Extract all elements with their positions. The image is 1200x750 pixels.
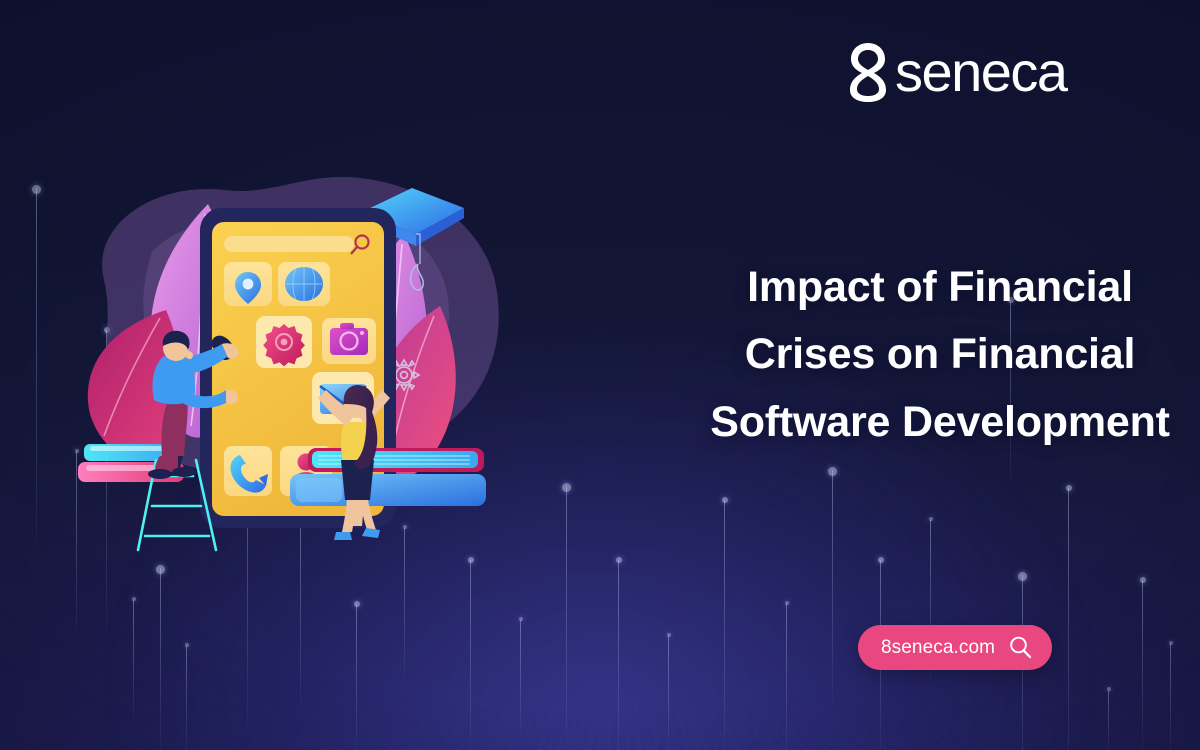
- dot-mesh-primary: [0, 670, 1200, 750]
- hero-illustration: [60, 160, 600, 560]
- website-cta-badge[interactable]: 8seneca.com: [858, 625, 1052, 670]
- books-stack-right: [290, 448, 486, 506]
- 8seneca-infinity-mark: [845, 39, 891, 105]
- brand-logo[interactable]: seneca: [845, 39, 1067, 105]
- dot-mesh-secondary: [0, 679, 1200, 750]
- logo-wordmark: seneca: [895, 44, 1067, 100]
- website-url-label: 8seneca.com: [881, 637, 995, 659]
- globe-icon: [285, 267, 323, 301]
- tablet-search-bar[interactable]: [224, 236, 369, 255]
- banner-root: seneca Impact of Financial Crises on Fin…: [0, 0, 1200, 750]
- search-icon: [1008, 635, 1033, 660]
- page-title: Impact of Financial Crises on Financial …: [700, 254, 1180, 457]
